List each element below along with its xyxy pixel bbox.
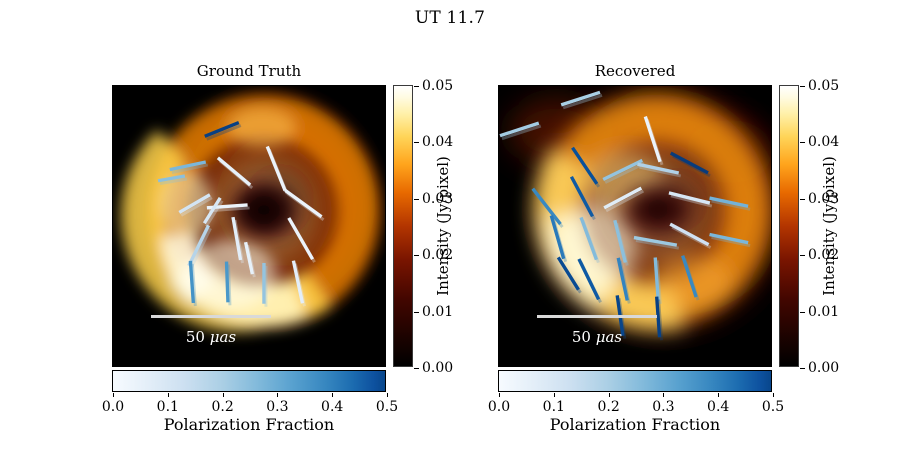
polarization-colorbar-tick	[387, 393, 388, 397]
intensity-colorbar-tick	[414, 368, 419, 369]
intensity-colorbar-tick	[414, 142, 419, 143]
image-axes-recovered[interactable]: 50 μas	[498, 85, 772, 367]
intensity-colorbar-tick	[800, 142, 805, 143]
polarization-colorbar-tick	[609, 393, 610, 397]
intensity-colorbar-label-ground-truth: Intensity (Jy/pixel)	[434, 156, 452, 296]
polarization-colorbar-tick	[223, 393, 224, 397]
scalebar-line-ground-truth	[151, 315, 271, 318]
intensity-colorbar-tick	[414, 86, 419, 87]
intensity-colorbar-tick-label: 0.00	[808, 360, 839, 376]
scalebar-label-recovered: 50 μas	[517, 328, 677, 346]
polarization-colorbar-tick	[499, 393, 500, 397]
intensity-colorbar-label-recovered: Intensity (Jy/pixel)	[820, 156, 838, 296]
intensity-colorbar-tick	[800, 312, 805, 313]
intensity-colorbar-tick-label: 0.01	[808, 304, 839, 320]
polarization-colorbar-tick-label: 0.3	[652, 399, 674, 415]
polarization-colorbar-tick-label: 0.5	[376, 399, 398, 415]
polarization-tick	[227, 262, 228, 303]
polarization-colorbar-tick-label: 0.4	[321, 399, 343, 415]
polarization-colorbar-tick-label: 0.2	[597, 399, 619, 415]
intensity-colorbar-ground-truth[interactable]: 0.000.010.020.030.040.05	[393, 85, 413, 367]
polarization-colorbar-tick-label: 0.5	[762, 399, 784, 415]
polarization-colorbar-tick-label: 0.1	[543, 399, 565, 415]
polarization-colorbar-label-recovered: Polarization Fraction	[498, 415, 772, 434]
intensity-colorbar-tick	[414, 255, 419, 256]
polarization-colorbar-tick	[168, 393, 169, 397]
intensity-colorbar-tick	[414, 312, 419, 313]
intensity-colorbar-tick	[800, 255, 805, 256]
polarization-colorbar-tick	[277, 393, 278, 397]
polarization-colorbar-recovered[interactable]: 0.00.10.20.30.40.5	[498, 370, 772, 392]
polarization-colorbar-label-ground-truth: Polarization Fraction	[112, 415, 386, 434]
intensity-colorbar-recovered[interactable]: 0.000.010.020.030.040.05	[779, 85, 799, 367]
polarization-colorbar-tick	[718, 393, 719, 397]
sky-image-recovered	[499, 86, 771, 366]
intensity-colorbar-tick-label: 0.05	[422, 78, 453, 94]
polarization-colorbar-tick	[554, 393, 555, 397]
intensity-colorbar-tick	[414, 199, 419, 200]
polarization-colorbar-tick-label: 0.3	[266, 399, 288, 415]
polarization-colorbar-tick-label: 0.1	[157, 399, 179, 415]
polarization-colorbar-tick-label: 0.0	[488, 399, 510, 415]
polarization-colorbar-tick-label: 0.4	[707, 399, 729, 415]
panel-title-recovered: Recovered	[498, 62, 772, 80]
scalebar-line-recovered	[537, 315, 657, 318]
sky-image-ground-truth	[113, 86, 385, 366]
intensity-colorbar-tick-label: 0.04	[422, 134, 453, 150]
intensity-colorbar-tick-label: 0.05	[808, 78, 839, 94]
intensity-colorbar-tick-label: 0.04	[808, 134, 839, 150]
polarization-colorbar-tick	[332, 393, 333, 397]
intensity-colorbar-tick	[800, 199, 805, 200]
intensity-colorbar-tick-label: 0.01	[422, 304, 453, 320]
polarization-colorbar-ground-truth[interactable]: 0.00.10.20.30.40.5	[112, 370, 386, 392]
polarization-colorbar-tick	[773, 393, 774, 397]
figure-title: UT 11.7	[0, 8, 900, 28]
polarization-colorbar-tick-label: 0.2	[211, 399, 233, 415]
intensity-colorbar-tick	[800, 368, 805, 369]
intensity-colorbar-tick	[800, 86, 805, 87]
polarization-colorbar-tick-label: 0.0	[102, 399, 124, 415]
scalebar-label-ground-truth: 50 μas	[131, 328, 291, 346]
image-axes-ground-truth[interactable]: 50 μas	[112, 85, 386, 367]
intensity-colorbar-tick-label: 0.00	[422, 360, 453, 376]
polarization-colorbar-tick	[113, 393, 114, 397]
panel-title-ground-truth: Ground Truth	[112, 62, 386, 80]
polarization-colorbar-tick	[663, 393, 664, 397]
